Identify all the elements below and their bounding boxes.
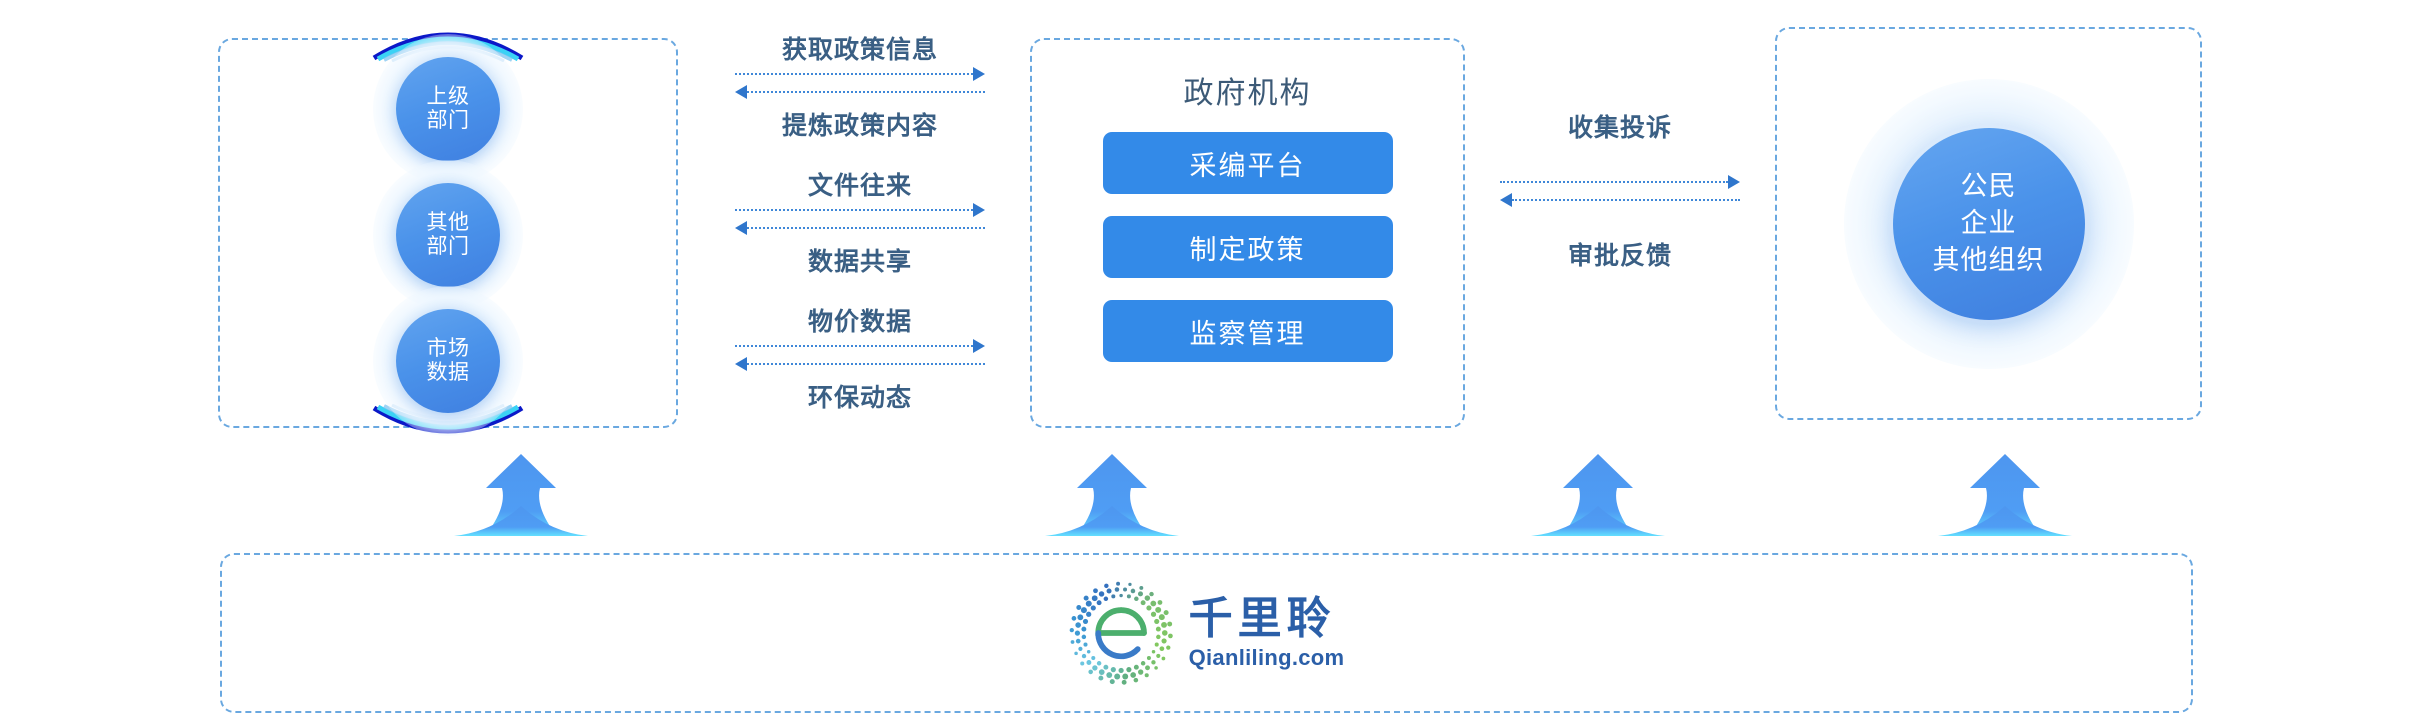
sources-panel: 上级 部门 其他 部门 市场 数据: [218, 38, 678, 428]
source-node-2[interactable]: 市场 数据: [368, 303, 528, 419]
relation-arrow-pair-right: [1500, 174, 1740, 208]
relation-arrow-leftward: [735, 86, 985, 98]
arrowhead-right-icon: [973, 203, 985, 217]
audience-label-line2: 企业: [1961, 205, 2017, 242]
arrowhead-right-icon: [973, 67, 985, 81]
source-node-label-line2: 部门: [427, 109, 470, 133]
arrowhead-right-icon: [973, 339, 985, 353]
relation-arrow-pair-3: [735, 338, 985, 372]
relation-label-5: 环保动态: [735, 378, 985, 414]
dashed-line: [735, 209, 973, 211]
relation-arrow-rightward: [1500, 176, 1740, 188]
right-relation-column: 收集投诉 审批反馈: [1500, 108, 1740, 272]
source-node-circle: 市场 数据: [396, 309, 500, 413]
relation-arrow-pair-1: [735, 66, 985, 100]
audience-panel: 公民 企业 其他组织: [1775, 27, 2202, 420]
government-service-item-2[interactable]: 监察管理: [1103, 300, 1393, 362]
relation-label-feedback: 审批反馈: [1500, 236, 1740, 272]
government-panel-title: 政府机构: [1032, 68, 1463, 112]
source-node-label-line1: 上级: [427, 85, 470, 109]
source-node-label-line1: 市场: [427, 337, 470, 361]
relation-arrow-leftward: [735, 358, 985, 370]
relation-arrow-rightward: [735, 204, 985, 216]
relation-label-0: 获取政策信息: [735, 30, 985, 66]
brand-logo: 千里聆 Qianliling.com: [1069, 581, 1345, 685]
government-service-item-0[interactable]: 采编平台: [1103, 132, 1393, 194]
relation-label-3: 数据共享: [735, 242, 985, 278]
dashed-line: [747, 91, 985, 93]
government-service-item-1[interactable]: 制定政策: [1103, 216, 1393, 278]
audience-node-circle: 公民 企业 其他组织: [1893, 128, 2085, 320]
audience-label-line1: 公民: [1961, 168, 2017, 205]
arrowhead-left-icon: [1500, 193, 1512, 207]
relation-arrow-leftward: [1500, 194, 1740, 206]
qianliling-logo-icon: [1069, 581, 1173, 685]
government-panel: 政府机构 采编平台 制定政策 监察管理: [1030, 38, 1465, 428]
arrowhead-right-icon: [1728, 175, 1740, 189]
left-relation-column: 获取政策信息 提炼政策内容 文件往来 数据共享 物价数据: [735, 30, 985, 414]
relation-arrow-pair-2: [735, 202, 985, 236]
up-arrow-sources-icon: [452, 452, 590, 540]
platform-panel: 千里聆 Qianliling.com: [220, 553, 2193, 713]
government-service-list: 采编平台 制定政策 监察管理: [1032, 132, 1463, 362]
source-node-1[interactable]: 其他 部门: [368, 177, 528, 293]
dashed-line: [747, 363, 985, 365]
relation-label-2: 文件往来: [735, 166, 985, 202]
source-node-label-line2: 数据: [427, 361, 470, 385]
relation-arrow-leftward: [735, 222, 985, 234]
relation-arrow-rightward: [735, 340, 985, 352]
source-node-stack: 上级 部门 其他 部门 市场 数据: [353, 40, 543, 430]
source-node-label-line2: 部门: [427, 235, 470, 259]
source-node-circle: 上级 部门: [396, 57, 500, 161]
relation-label-collect: 收集投诉: [1500, 108, 1740, 144]
relation-label-1: 提炼政策内容: [735, 106, 985, 142]
brand-name-en: Qianliling.com: [1189, 645, 1345, 671]
relation-label-4: 物价数据: [735, 302, 985, 338]
source-node-0[interactable]: 上级 部门: [368, 51, 528, 167]
source-node-circle: 其他 部门: [396, 183, 500, 287]
source-node-label-line1: 其他: [427, 211, 470, 235]
arrowhead-left-icon: [735, 357, 747, 371]
dashed-line: [735, 73, 973, 75]
audience-label-line3: 其他组织: [1933, 242, 2045, 279]
dashed-line: [747, 227, 985, 229]
arrowhead-left-icon: [735, 221, 747, 235]
dashed-line: [1500, 181, 1728, 183]
up-arrow-midright-icon: [1529, 452, 1667, 540]
up-arrow-audience-icon: [1936, 452, 2074, 540]
audience-node[interactable]: 公民 企业 其他组织: [1839, 74, 2139, 374]
up-arrow-government-icon: [1043, 452, 1181, 540]
brand-logo-text: 千里聆 Qianliling.com: [1189, 595, 1345, 672]
dashed-line: [1512, 199, 1740, 201]
dashed-line: [735, 345, 973, 347]
relation-arrow-rightward: [735, 68, 985, 80]
brand-name-cn: 千里聆: [1189, 595, 1336, 643]
arrowhead-left-icon: [735, 85, 747, 99]
